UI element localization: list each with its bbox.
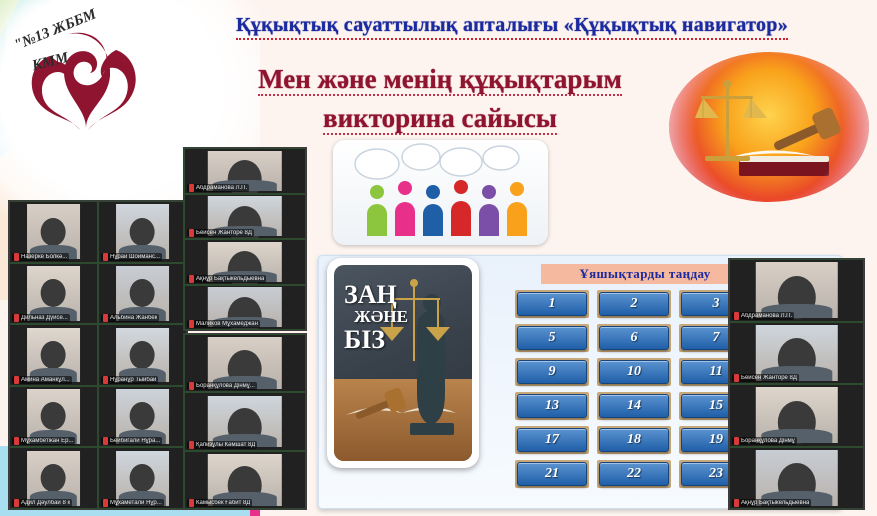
speech-bubble-people-image xyxy=(333,140,548,245)
presentation-slide: "№13 ЖББМ КММ Құқықтық сауаттылық апталы… xyxy=(0,0,877,516)
microphone-muted-icon xyxy=(734,437,739,445)
quiz-cell-label[interactable]: 18 xyxy=(599,428,669,452)
video-tile[interactable]: Амина Аманкұл... xyxy=(9,324,98,386)
quiz-cell-label[interactable]: 21 xyxy=(517,462,587,486)
school-logo: "№13 ЖББМ КММ xyxy=(6,4,166,144)
participant-name: Бейбигали Нұра... xyxy=(110,438,160,444)
video-tile[interactable]: Бейбигали Нұра... xyxy=(98,386,187,448)
participant-video xyxy=(116,266,170,321)
participant-name-badge: Боранқұлова Дінмұ xyxy=(732,437,797,445)
quiz-cell-13[interactable]: 13 xyxy=(515,392,589,420)
participant-name-badge: Ақнұр Бақтыкельдыевна xyxy=(732,499,811,507)
video-grid-mid-top: Абдраманова Л.П.Бейсен Жанторе 8ДАқнұр Б… xyxy=(184,148,306,330)
microphone-muted-icon xyxy=(189,441,194,449)
participant-name-badge: Боранқұлова Дінмұ... xyxy=(187,382,257,390)
microphone-muted-icon xyxy=(14,314,19,322)
participant-name-badge: Назерке Болкә... xyxy=(12,253,69,261)
law-poster-line-3: БІЗ xyxy=(344,326,408,353)
microphone-muted-icon xyxy=(734,312,739,320)
participant-head xyxy=(41,464,66,492)
video-panel-left[interactable]: Назерке Болкә...Нұрай Шойманс...Дильназ … xyxy=(8,200,188,510)
video-tile[interactable]: Ақнұр Бақтыкельдыевна xyxy=(729,447,864,510)
participant-video xyxy=(116,328,170,383)
participant-video xyxy=(27,204,81,259)
participant-video xyxy=(116,389,170,444)
video-grid-right: Абдраманова Л.П.Бейсен Жанторе 8ДБоранқұ… xyxy=(729,259,864,509)
quiz-cell-21[interactable]: 21 xyxy=(515,460,589,488)
participant-name-badge: Мұхаметали Нұр... xyxy=(101,499,164,507)
participant-video xyxy=(755,262,837,318)
quiz-cell-22[interactable]: 22 xyxy=(597,460,671,488)
participant-name: Камысбек Ғабит 8Д xyxy=(196,500,250,506)
quiz-cell-label[interactable]: 9 xyxy=(517,360,587,384)
microphone-muted-icon xyxy=(103,314,108,322)
video-tile[interactable]: Камысбек Ғабит 8Д xyxy=(184,451,306,509)
video-tile[interactable]: Маликов Мұхамеджан xyxy=(184,285,306,331)
microphone-muted-icon xyxy=(734,499,739,507)
microphone-muted-icon xyxy=(103,376,108,384)
participant-video xyxy=(116,451,170,506)
video-grid-mid-bottom: Боранқұлова Дінмұ...Қапизұлы Кәмшат 8ДКа… xyxy=(184,334,306,509)
participant-name: Мұхамбетжан Ер... xyxy=(21,438,73,444)
quiz-cell-9[interactable]: 9 xyxy=(515,358,589,386)
quiz-cell-label[interactable]: 2 xyxy=(599,292,669,316)
participant-head xyxy=(41,218,66,246)
participant-name-badge: Дильназ Дүйсе... xyxy=(12,314,70,322)
participant-name: Адил Дәулбай 8 к xyxy=(21,500,70,506)
quiz-cell-label[interactable]: 10 xyxy=(599,360,669,384)
participant-video xyxy=(27,451,81,506)
quiz-cell-18[interactable]: 18 xyxy=(597,426,671,454)
microphone-muted-icon xyxy=(189,499,194,507)
quiz-cell-6[interactable]: 6 xyxy=(597,324,671,352)
microphone-muted-icon xyxy=(189,184,194,192)
microphone-muted-icon xyxy=(189,382,194,390)
participant-name: Мұхаметали Нұр... xyxy=(110,500,162,506)
video-tile[interactable]: Мұхамбетжан Ер... xyxy=(9,386,98,448)
video-panel-mid-top[interactable]: Абдраманова Л.П.Бейсен Жанторе 8ДАқнұр Б… xyxy=(183,147,307,331)
participant-name-badge: Амина Аманкұл... xyxy=(12,376,72,384)
quiz-cell-label[interactable]: 14 xyxy=(599,394,669,418)
participant-head xyxy=(130,341,155,369)
participant-name: Боранқұлова Дінмұ xyxy=(741,438,795,444)
video-tile[interactable]: Назерке Болкә... xyxy=(9,201,98,263)
microphone-muted-icon xyxy=(14,499,19,507)
quiz-board-title: Ұяшықтарды таңдау xyxy=(541,264,749,284)
quiz-cell-1[interactable]: 1 xyxy=(515,290,589,318)
participant-name: Бейсен Жанторе 8Д xyxy=(741,375,797,381)
microphone-muted-icon xyxy=(189,229,194,237)
participant-head xyxy=(41,279,66,307)
video-tile[interactable]: Нұрай Шойманс... xyxy=(98,201,187,263)
participant-video xyxy=(755,387,837,443)
quiz-cell-5[interactable]: 5 xyxy=(515,324,589,352)
video-tile[interactable]: Ақнұр Бақтыкельдыевна xyxy=(184,239,306,285)
microphone-muted-icon xyxy=(103,437,108,445)
participant-name: Альбина Жанбек xyxy=(110,315,157,321)
participant-video xyxy=(208,396,282,448)
participant-video xyxy=(116,204,170,259)
scales-vignette xyxy=(669,52,869,202)
video-tile[interactable]: Мұхаметали Нұр... xyxy=(98,447,187,509)
microphone-muted-icon xyxy=(103,253,108,261)
video-panel-mid-bottom[interactable]: Боранқұлова Дінмұ...Қапизұлы Кәмшат 8ДКа… xyxy=(183,333,307,510)
microphone-muted-icon xyxy=(103,499,108,507)
law-poster-line-1: ЗАҢ xyxy=(344,281,408,308)
participant-name: Нұранұр Тыйбай xyxy=(110,377,156,383)
participant-name: Амина Аманкұл... xyxy=(21,377,70,383)
participant-name-badge: Нұрай Шойманс... xyxy=(101,253,162,261)
participant-video xyxy=(755,325,837,381)
justice-scales-image xyxy=(669,52,869,202)
video-tile[interactable]: Бейсен Жанторе 8Д xyxy=(184,194,306,240)
video-tile[interactable]: Боранқұлова Дінмұ... xyxy=(184,334,306,392)
quiz-cell-label[interactable]: 5 xyxy=(517,326,587,350)
quiz-cell-label[interactable]: 22 xyxy=(599,462,669,486)
participant-name: Ақнұр Бақтыкельдыевна xyxy=(741,500,809,506)
video-tile[interactable]: Абдраманова Л.П. xyxy=(729,259,864,322)
participant-head xyxy=(41,341,66,369)
participant-name-badge: Абдраманова Л.П. xyxy=(732,312,794,320)
video-tile[interactable]: Альбина Жанбек xyxy=(98,263,187,325)
quiz-cell-14[interactable]: 14 xyxy=(597,392,671,420)
law-poster-inner: ЗАҢ ЖӘНЕ БІЗ xyxy=(334,265,472,461)
quiz-cell-2[interactable]: 2 xyxy=(597,290,671,318)
quiz-cell-10[interactable]: 10 xyxy=(597,358,671,386)
page-title-line-2: викторина сайысы xyxy=(323,103,557,135)
video-tile[interactable]: Адил Дәулбай 8 к xyxy=(9,447,98,509)
microphone-muted-icon xyxy=(189,320,194,328)
microphone-muted-icon xyxy=(189,275,194,283)
participant-video xyxy=(27,389,81,444)
participant-name-badge: Абдраманова Л.П. xyxy=(187,184,249,192)
video-grid-left: Назерке Болкә...Нұрай Шойманс...Дильназ … xyxy=(9,201,187,509)
participant-name: Дильназ Дүйсе... xyxy=(21,315,68,321)
participant-head xyxy=(41,402,66,430)
participant-video xyxy=(27,266,81,321)
participant-head xyxy=(130,464,155,492)
microphone-muted-icon xyxy=(734,374,739,382)
participant-name: Нұрай Шойманс... xyxy=(110,254,160,260)
participant-video xyxy=(208,454,282,506)
video-tile[interactable]: Нұранұр Тыйбай xyxy=(98,324,187,386)
page-title: Мен және менің құқықтарым викторина сайы… xyxy=(180,60,700,138)
microphone-muted-icon xyxy=(14,253,19,261)
participant-name-badge: Ақнұр Бақтыкельдыевна xyxy=(187,275,266,283)
law-poster-line-2: ЖӘНЕ xyxy=(354,308,408,326)
participant-name-badge: Маликов Мұхамеджан xyxy=(187,320,260,328)
quiz-cell-label[interactable]: 1 xyxy=(517,292,587,316)
video-tile[interactable]: Абдраманова Л.П. xyxy=(184,148,306,194)
week-title: Құқықтық сауаттылық апталығы «Құқықтық н… xyxy=(152,14,872,37)
participant-name: Ақнұр Бақтыкельдыевна xyxy=(196,276,264,282)
participant-name-badge: Камысбек Ғабит 8Д xyxy=(187,499,252,507)
participant-name: Боранқұлова Дінмұ... xyxy=(196,383,255,389)
video-tile[interactable]: Боранқұлова Дінмұ xyxy=(729,384,864,447)
video-tile[interactable]: Қапизұлы Кәмшат 8Д xyxy=(184,392,306,450)
microphone-muted-icon xyxy=(14,437,19,445)
page-title-line-1: Мен және менің құқықтарым xyxy=(258,64,622,96)
video-panel-right[interactable]: Абдраманова Л.П.Бейсен Жанторе 8ДБоранқұ… xyxy=(728,258,865,510)
quiz-cell-label[interactable]: 17 xyxy=(517,428,587,452)
participant-name-badge: Адил Дәулбай 8 к xyxy=(12,499,72,507)
law-poster-text: ЗАҢ ЖӘНЕ БІЗ xyxy=(344,281,408,353)
participant-name: Қапизұлы Кәмшат 8Д xyxy=(196,442,255,448)
participant-video xyxy=(755,450,837,506)
participant-name-badge: Бейбигали Нұра... xyxy=(101,437,162,445)
video-tile[interactable]: Дильназ Дүйсе... xyxy=(9,263,98,325)
participant-name: Абдраманова Л.П. xyxy=(196,185,247,191)
participant-name: Абдраманова Л.П. xyxy=(741,313,792,319)
video-tile[interactable]: Бейсен Жанторе 8Д xyxy=(729,322,864,385)
participant-video xyxy=(27,328,81,383)
quiz-cell-label[interactable]: 13 xyxy=(517,394,587,418)
participant-name-badge: Мұхамбетжан Ер... xyxy=(12,437,75,445)
participant-name: Назерке Болкә... xyxy=(21,254,67,260)
participant-head xyxy=(130,402,155,430)
participant-name-badge: Бейсен Жанторе 8Д xyxy=(732,374,799,382)
people-speech-icon xyxy=(333,140,548,245)
participant-name-badge: Альбина Жанбек xyxy=(101,314,159,322)
participant-name-badge: Қапизұлы Кәмшат 8Д xyxy=(187,441,257,449)
participant-name-badge: Нұранұр Тыйбай xyxy=(101,376,158,384)
participant-head xyxy=(130,218,155,246)
week-title-text: Құқықтық сауаттылық апталығы «Құқықтық н… xyxy=(236,14,788,40)
participant-head xyxy=(130,279,155,307)
participant-name-badge: Бейсен Жанторе 8Д xyxy=(187,229,254,237)
participant-video xyxy=(208,337,282,389)
quiz-cell-17[interactable]: 17 xyxy=(515,426,589,454)
law-and-us-poster: ЗАҢ ЖӘНЕ БІЗ xyxy=(327,258,479,468)
quiz-cell-label[interactable]: 6 xyxy=(599,326,669,350)
microphone-muted-icon xyxy=(14,376,19,384)
participant-name: Бейсен Жанторе 8Д xyxy=(196,230,252,236)
participant-name: Маликов Мұхамеджан xyxy=(196,321,258,327)
